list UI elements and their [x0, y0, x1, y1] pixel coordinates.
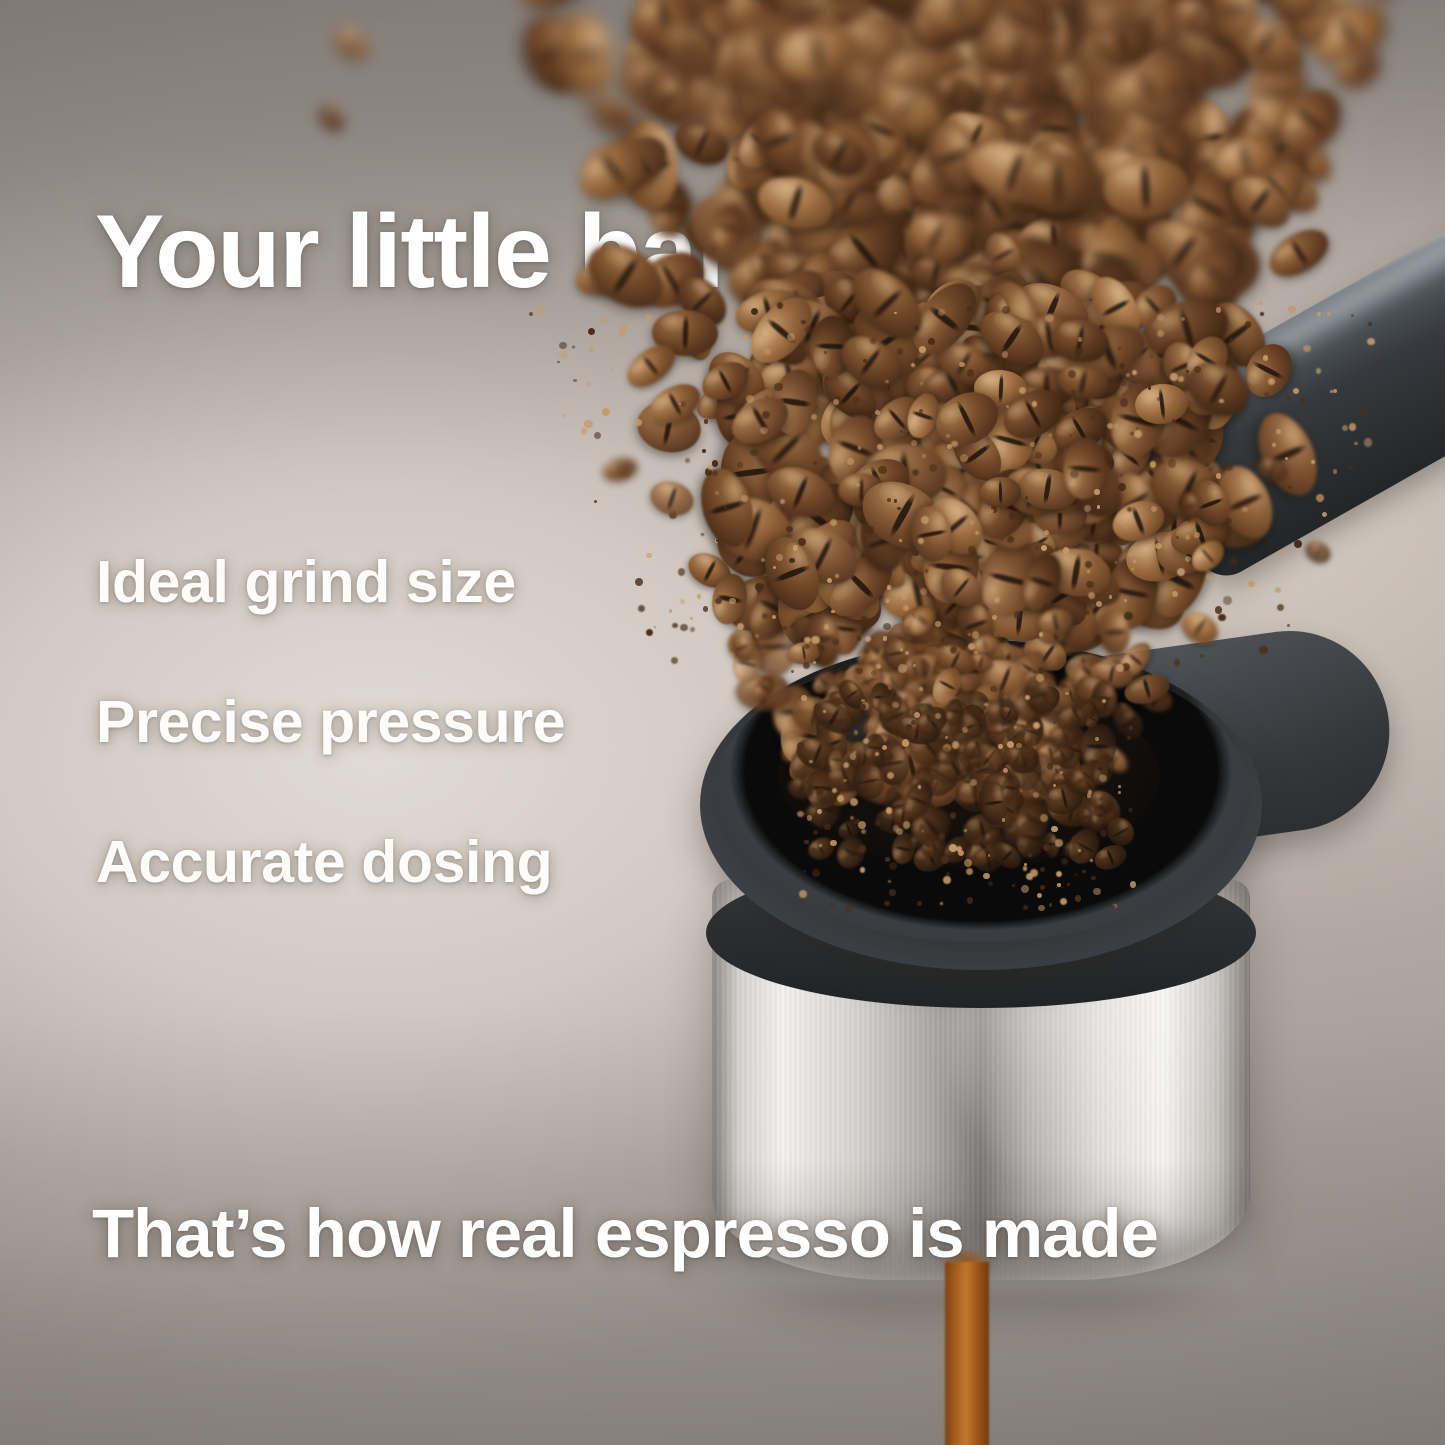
espresso-stream: [945, 1262, 989, 1445]
tagline: That’s how real espresso is made: [92, 1194, 1158, 1273]
feature-list: Ideal grind size Precise pressure Accura…: [96, 548, 565, 896]
page-title: Your little barista: [95, 193, 908, 312]
filter-basket-well: [778, 682, 1160, 868]
coffee-product-poster: Your little barista Ideal grind size Pre…: [0, 0, 1445, 1445]
feature-item-pressure: Precise pressure: [96, 688, 565, 756]
rim-inner-lip: [712, 648, 1250, 942]
filter-basket-rim: [700, 640, 1262, 970]
rim-specular-highlight: [798, 692, 1065, 755]
feature-item-dosing: Accurate dosing: [96, 828, 565, 896]
feature-item-grind-size: Ideal grind size: [96, 548, 565, 616]
